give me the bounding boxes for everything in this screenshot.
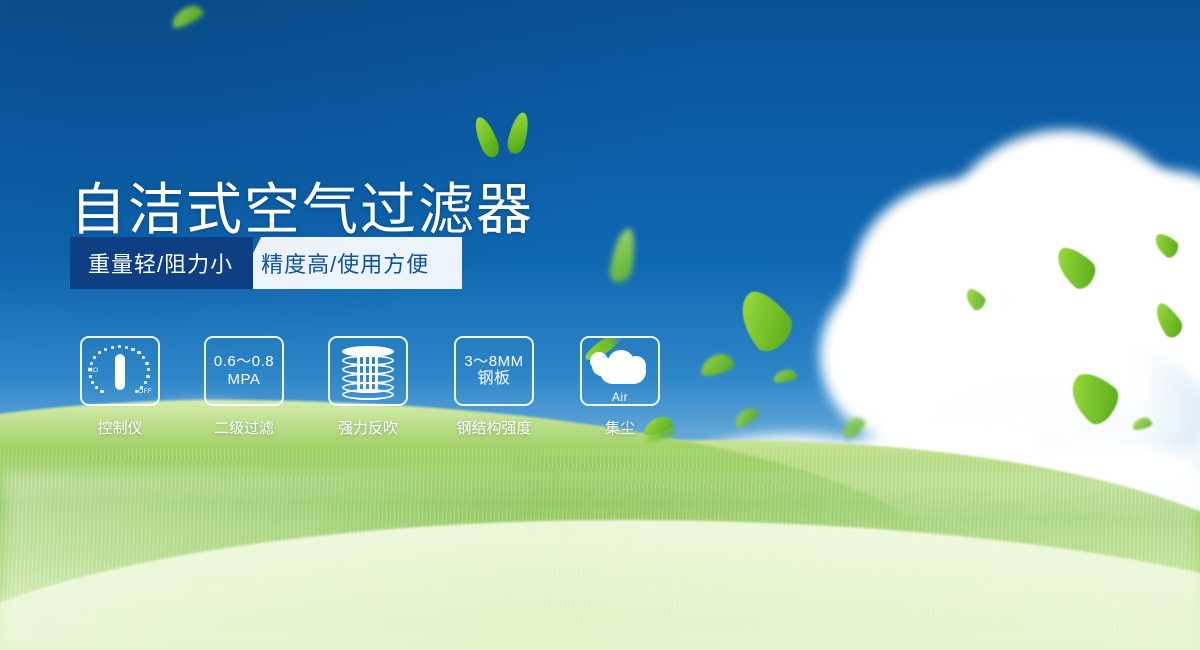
tagline-right-text: 精度高/使用方便 [261,247,429,279]
feature-caption: 控制仪 [97,417,142,438]
feature-box: NO OFF [80,336,160,406]
feature-box-line1: 3〜8MM [464,353,523,371]
feature-item-steel[interactable]: 3〜8MM 钢板 钢结构强度 [444,336,544,438]
gauge-dial-icon: NO OFF [89,343,151,399]
tagline-right: 精度高/使用方便 [235,237,462,289]
tagline-bar: 重量轻/阻力小 精度高/使用方便 [70,237,462,289]
feature-caption: 强力反吹 [338,417,398,438]
page-title: 自洁式空气过滤器 [70,183,534,239]
feature-box [328,336,408,406]
feature-caption: 集尘 [605,417,635,438]
feature-box-line2: MPA [228,371,261,389]
feature-box: 0.6〜0.8 MPA [204,336,284,406]
banner-content: 自洁式空气过滤器 重量轻/阻力小 精度高/使用方便 [0,0,1200,650]
sprout-leaves-icon [474,110,538,158]
tagline-left-text: 重量轻/阻力小 [88,247,233,279]
feature-item-controller[interactable]: NO OFF 控制仪 [72,336,168,438]
gauge-label-off: OFF [138,388,152,395]
feature-box: Air [580,336,660,406]
gauge-label-no: NO [88,367,98,374]
air-label: Air [588,390,652,404]
feature-box-line1: 0.6〜0.8 [214,353,274,371]
feature-item-blowback[interactable]: 强力反吹 [320,336,416,438]
cloud-air-icon: Air [588,348,652,394]
feature-item-pressure[interactable]: 0.6〜0.8 MPA 二级过滤 [196,336,292,438]
tagline-left: 重量轻/阻力小 [70,237,253,289]
feature-list: NO OFF 控制仪 0.6〜0.8 MPA 二级过滤 [72,336,668,438]
feature-caption: 二级过滤 [214,417,274,438]
feature-box: 3〜8MM 钢板 [454,336,534,406]
hero-banner: 自洁式空气过滤器 重量轻/阻力小 精度高/使用方便 [0,0,1200,650]
feature-caption: 钢结构强度 [456,417,531,438]
feature-box-line2: 钢板 [477,370,510,389]
filter-cartridge-icon [342,345,394,397]
